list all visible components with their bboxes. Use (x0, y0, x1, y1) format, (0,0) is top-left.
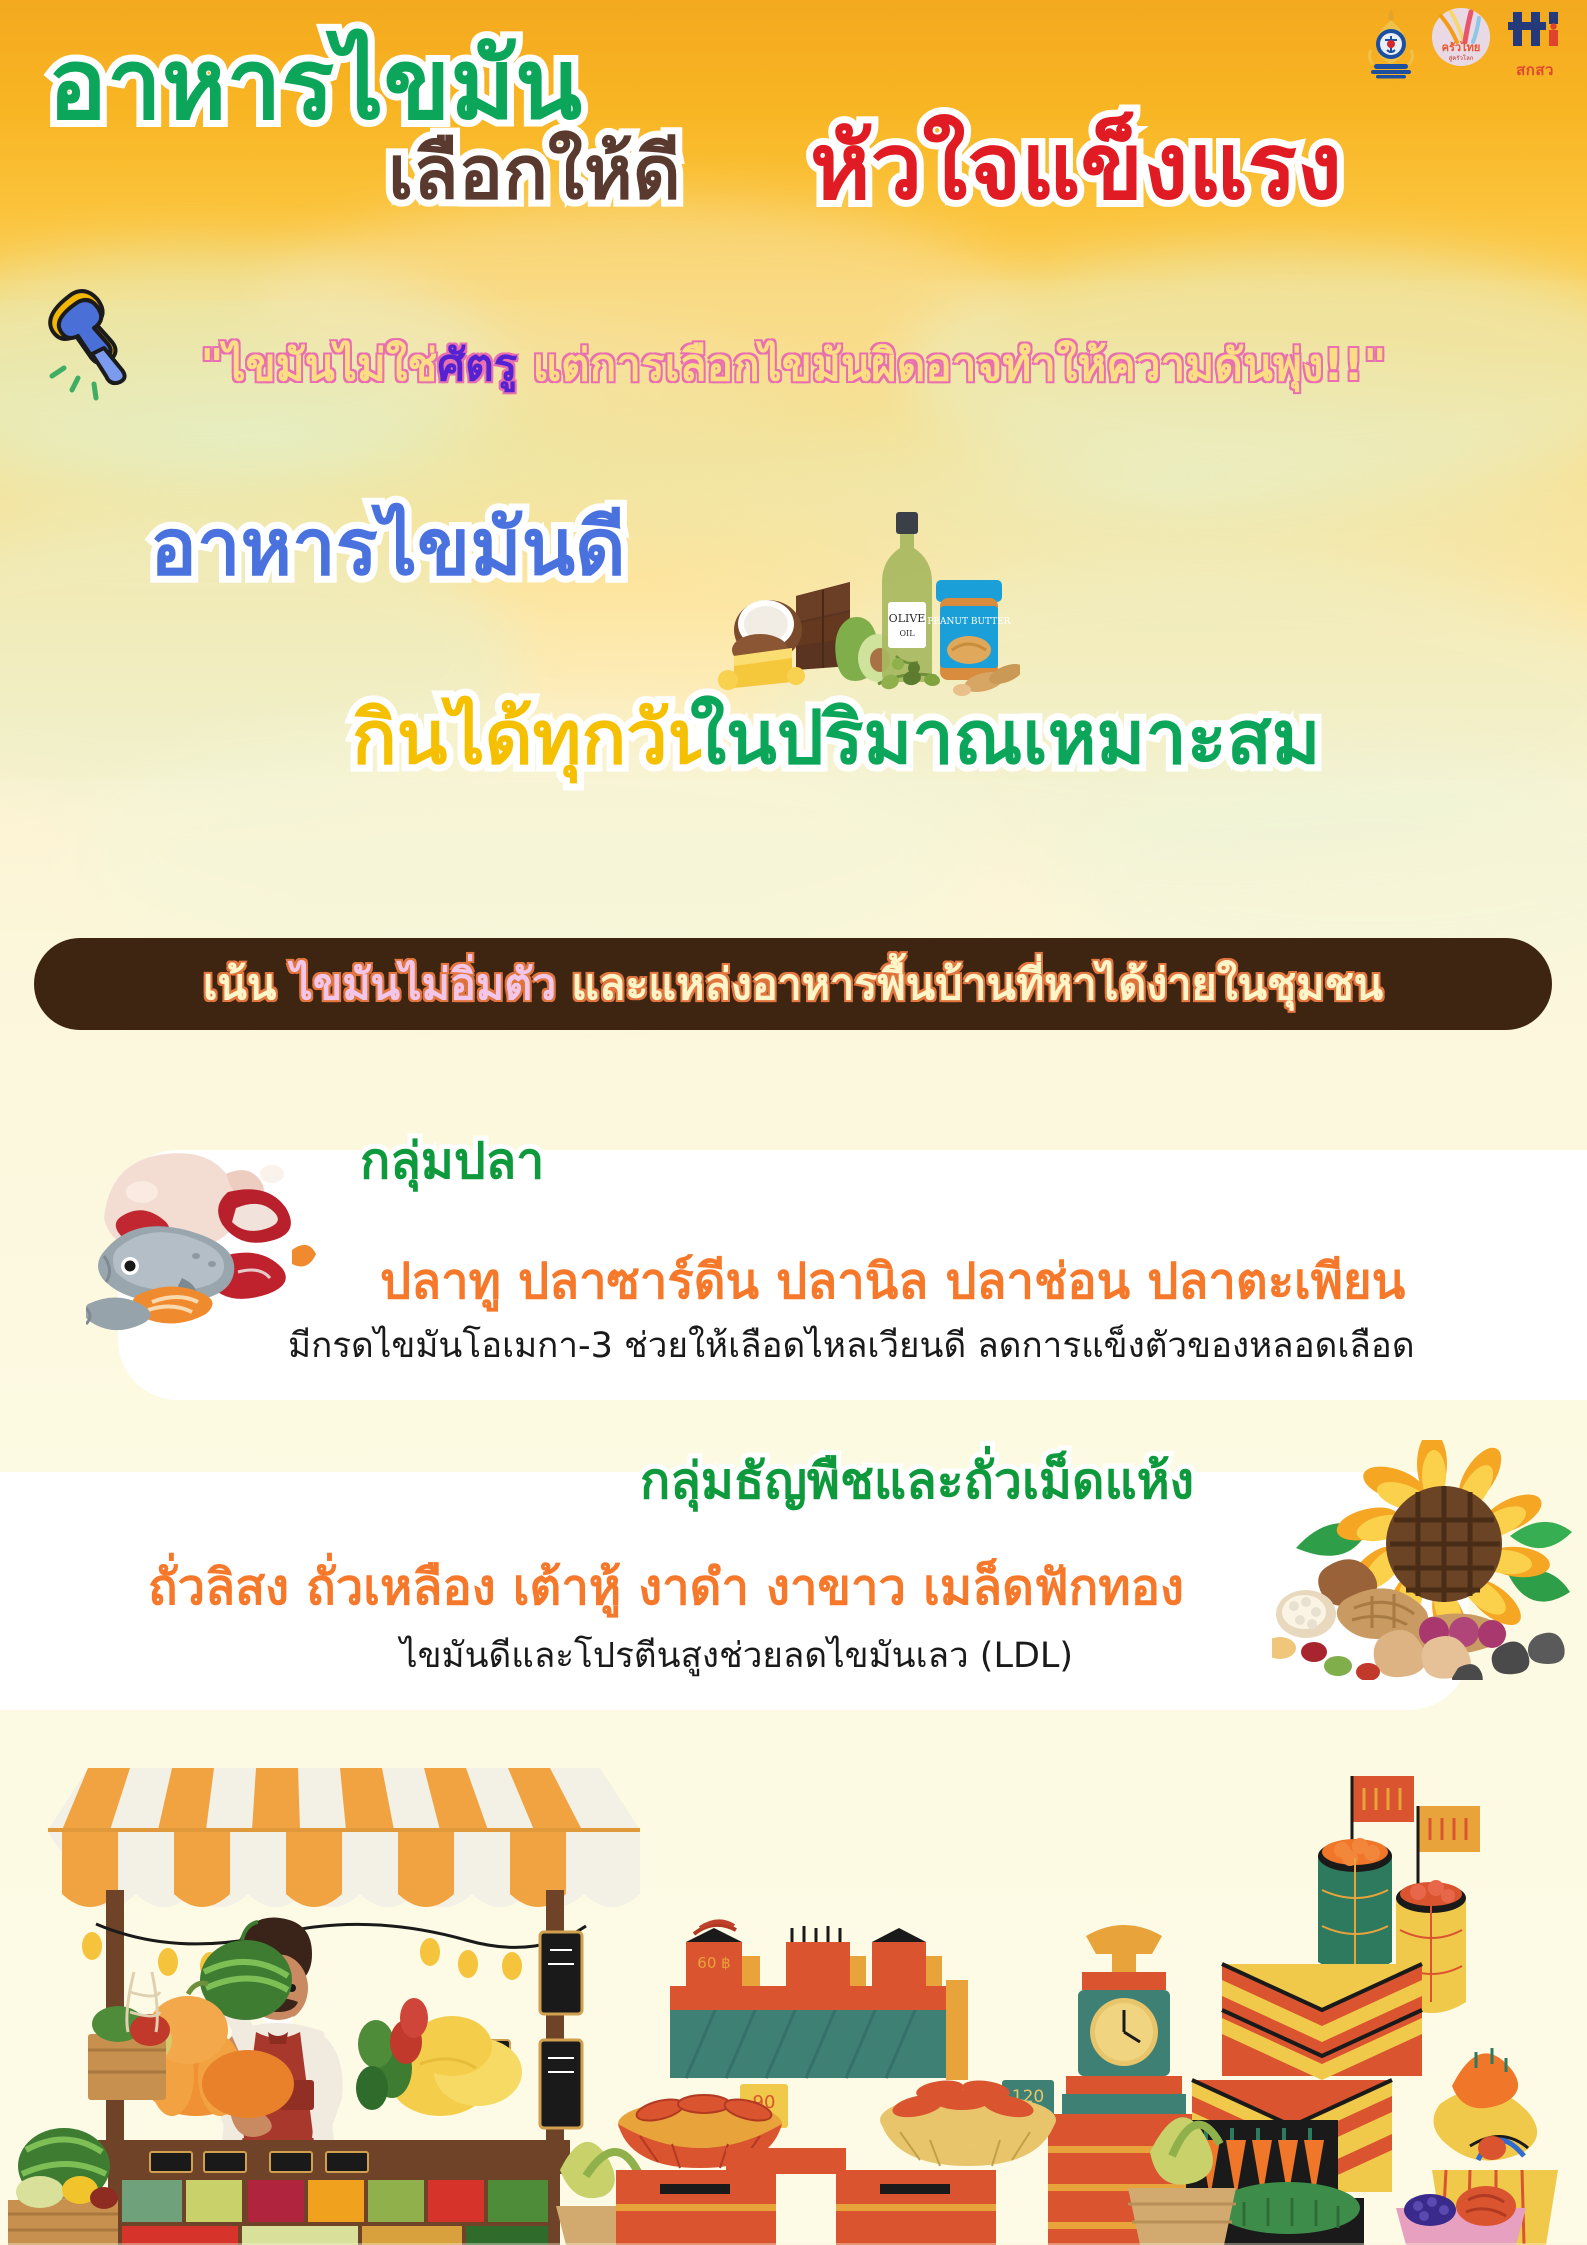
quote-keyword-enemy: ศัตรู (437, 340, 517, 391)
page-title-line2-choose: เลือกให้ดี (388, 134, 681, 212)
stall-awning-icon (48, 1768, 640, 1907)
food-group-description-fish: มีกรดไขมันโอเมกา-3 ช่วยให้เลือดไหลเวียนด… (288, 1318, 1415, 1373)
food-group-heading-seeds: กลุ่มธัญพืชและถั่วเม็ดแห้ง (640, 1442, 1194, 1521)
svg-text:PEANUT BUTTER: PEANUT BUTTER (927, 617, 1010, 627)
price-label-60: 60 ฿ (697, 1954, 730, 1972)
svg-text:ครัวไทย: ครัวไทย (1442, 40, 1481, 54)
banner-text-part1: เน้น (203, 960, 291, 1010)
svg-text:OLIVE: OLIVE (889, 612, 926, 625)
banner-highlight-unsaturated-fat: ไขมันไม่อิ่มตัว (291, 960, 556, 1010)
logo-row: ครัวไทย สู่ครัวโลก สกสว (1365, 6, 1565, 88)
ministry-of-public-health-emblem-icon (1365, 6, 1417, 88)
tagline-quote: "ไขมันไม่ใช่ศัตรู แต่การเลือกไขมันผิดอาจ… (0, 330, 1587, 400)
crate-display-top: 60 ฿ (686, 1921, 942, 1986)
blue-pushpin-icon (38, 282, 148, 402)
healthy-fats-illustration: OLIVE OIL PEANUT BUTTER (700, 498, 1020, 698)
quote-close-mark: " (1364, 340, 1387, 391)
shelf-produce-lower (122, 2226, 548, 2245)
subtitle-proper-amount: ในปริมาณเหมาะสม (690, 678, 1321, 796)
quote-text-part2: แต่การเลือกไขมันผิดอาจทำให้ความดันพุ่ง!! (517, 340, 1363, 391)
svg-text:OIL: OIL (899, 629, 915, 638)
tsri-logo-icon: สกสว (1505, 6, 1565, 82)
poster-canvas: ครัวไทย สู่ครัวโลก สกสว อาหารไขมัน เลือก… (0, 0, 1587, 2245)
quote-text-part1: ไขมันไม่ใช่ (223, 340, 437, 391)
tsri-logo-label: สกสว (1505, 58, 1565, 82)
string-lights-icon (96, 1924, 586, 1947)
quote-open-mark: " (201, 340, 224, 391)
fish-table (670, 2008, 960, 2078)
emphasis-banner-text: เน้น ไขมันไม่อิ่มตัว และแหล่งอาหารพื้นบ้… (203, 950, 1383, 1018)
page-title-line1: อาหารไขมัน (48, 34, 582, 138)
food-group-items-fish: ปลาทู ปลาซาร์ดีน ปลานิล ปลาช่อน ปลาตะเพี… (380, 1242, 1405, 1320)
emphasis-banner: เน้น ไขมันไม่อิ่มตัว และแหล่งอาหารพื้นบ้… (34, 938, 1552, 1030)
crate-top-left (88, 1972, 170, 2100)
greens-crate (1214, 2182, 1364, 2245)
food-group-description-seeds: ไขมันดีและโปรตีนสูงช่วยลดไขมันเลว (LDL) (400, 1628, 1073, 1683)
food-group-items-seeds: ถั่วลิสง ถั่วเหลือง เต้าหู้ งาดำ งาขาว เ… (148, 1548, 1184, 1626)
subtitle-good-fat-food: อาหารไขมันดี (150, 485, 626, 609)
sunflower-nuts-illustration (1272, 1440, 1587, 1680)
barrel-green (1318, 1838, 1392, 1973)
weighing-scale-icon (1062, 1925, 1186, 2114)
page-title-line2-strongheart: หัวใจแข็งแรง (810, 118, 1342, 216)
banner-text-part2: และแหล่งอาหารพื้นบ้านที่หาได้ง่ายในชุมชน (556, 960, 1383, 1010)
market-scene-illustration: 60 ฿ (0, 1700, 1587, 2245)
vegetable-stall (8, 1768, 652, 2245)
crate-tower-right (1128, 1776, 1558, 2245)
subtitle-eat-daily: กินได้ทุกวัน (352, 678, 718, 796)
chevron-crate-top (1222, 1964, 1422, 2080)
fish-stall: 60 ฿ (616, 1921, 1204, 2245)
fish-meat-illustration (86, 1130, 316, 1335)
food-group-heading-fish: กลุ่มปลา (360, 1122, 544, 1201)
olive-oil-bottle-icon: OLIVE OIL (882, 512, 932, 682)
peanut-butter-jar-icon: PEANUT BUTTER (927, 580, 1010, 680)
circular-campaign-logo-icon: ครัวไทย สู่ครัวโลก (1431, 6, 1491, 72)
svg-text:สู่ครัวโลก: สู่ครัวโลก (1449, 54, 1474, 62)
